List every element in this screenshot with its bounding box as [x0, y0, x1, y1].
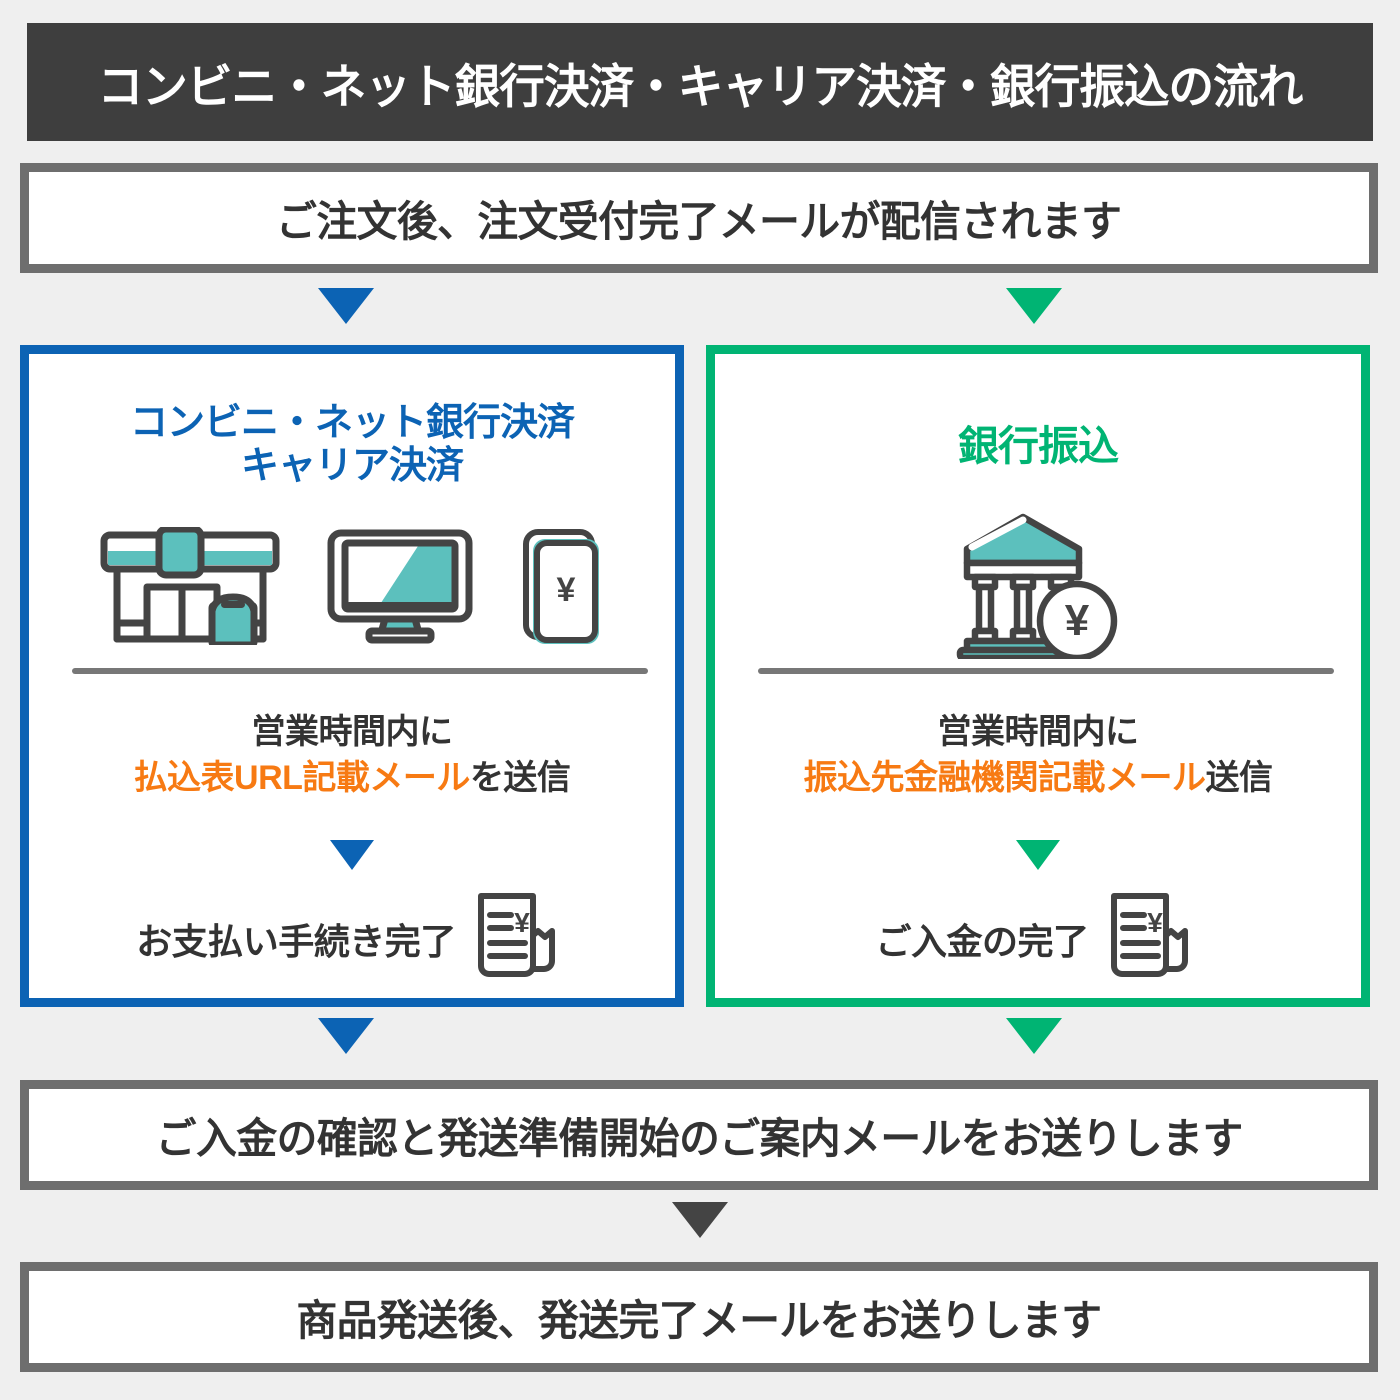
step-order-received: ご注文後、注文受付完了メールが配信されます [20, 163, 1378, 273]
storefront-icon [99, 527, 281, 650]
panel-bank-note-highlight: 振込先金融機関記載メール [804, 759, 1206, 797]
svg-text:¥: ¥ [1065, 596, 1090, 645]
panel-bank-note: 営業時間内に 振込先金融機関記載メール送信 [715, 710, 1361, 801]
panel-conbini-note-line1: 営業時間内に [29, 710, 675, 756]
panel-bank-icon-row: ¥ [715, 514, 1361, 664]
panel-bank-title: 銀行振込 [715, 424, 1361, 470]
panel-bank-title-line1: 銀行振込 [715, 424, 1361, 470]
panel-conbini-note: 営業時間内に 払込表URL記載メールを送信 [29, 710, 675, 801]
panel-conbini-note-suffix: を送信 [470, 759, 571, 797]
green-down-arrow-icon [1006, 288, 1062, 324]
desktop-monitor-icon [325, 527, 475, 650]
diagram-header: コンビニ・ネット銀行決済・キャリア決済・銀行振込の流れ [27, 23, 1373, 141]
panel-conbini-done: お支払い手続き完了 ¥ [29, 890, 675, 987]
panel-bank-divider [758, 668, 1334, 674]
step-payment-confirmed-label: ご入金の確認と発送準備開始のご案内メールをお送りします [156, 1105, 1243, 1166]
panel-conbini-title-line1: コンビニ・ネット銀行決済 [29, 402, 675, 445]
blue-down-arrow-icon [318, 1018, 374, 1054]
step-shipping-complete-label: 商品発送後、発送完了メールをお送りします [296, 1287, 1101, 1348]
panel-conbini-note-highlight: 払込表URL記載メール [134, 759, 470, 797]
green-down-arrow-icon [1006, 1018, 1062, 1054]
panel-bank-done: ご入金の完了 ¥ [715, 890, 1361, 987]
bank-building-yen-icon: ¥ [953, 511, 1123, 664]
receipt-yen-icon: ¥ [470, 890, 568, 987]
panel-conbini-divider [72, 668, 648, 674]
panel-bank-done-label: ご入金の完了 [875, 913, 1088, 965]
blue-down-arrow-icon [318, 288, 374, 324]
green-down-arrow-icon [1016, 840, 1060, 870]
panel-conbini-done-label: お支払い手続き完了 [136, 913, 456, 965]
blue-down-arrow-icon [330, 840, 374, 870]
page-title: コンビニ・ネット銀行決済・キャリア決済・銀行振込の流れ [98, 48, 1303, 117]
step-shipping-complete: 商品発送後、発送完了メールをお送りします [20, 1262, 1378, 1372]
panel-conbini-title: コンビニ・ネット銀行決済 キャリア決済 [29, 402, 675, 487]
step-order-received-label: ご注文後、注文受付完了メールが配信されます [276, 188, 1121, 249]
panel-conbini-icon-row: ¥ [29, 530, 675, 650]
receipt-yen-icon: ¥ [1103, 890, 1201, 987]
payment-flow-diagram: コンビニ・ネット銀行決済・キャリア決済・銀行振込の流れ ご注文後、注文受付完了メ… [0, 0, 1400, 1400]
panel-conbini-title-line2: キャリア決済 [29, 445, 675, 488]
dark-down-arrow-icon [672, 1202, 728, 1238]
svg-text:¥: ¥ [557, 571, 576, 609]
smartphone-yen-icon: ¥ [519, 527, 605, 650]
panel-bank-note-line1: 営業時間内に [715, 710, 1361, 756]
panel-conbini-payment: コンビニ・ネット銀行決済 キャリア決済 [20, 345, 684, 1007]
svg-text:¥: ¥ [514, 907, 530, 938]
panel-bank-note-suffix: 送信 [1206, 759, 1273, 797]
step-payment-confirmed: ご入金の確認と発送準備開始のご案内メールをお送りします [20, 1080, 1378, 1190]
svg-text:¥: ¥ [1147, 907, 1163, 938]
panel-bank-transfer: 銀行振込 [706, 345, 1370, 1007]
